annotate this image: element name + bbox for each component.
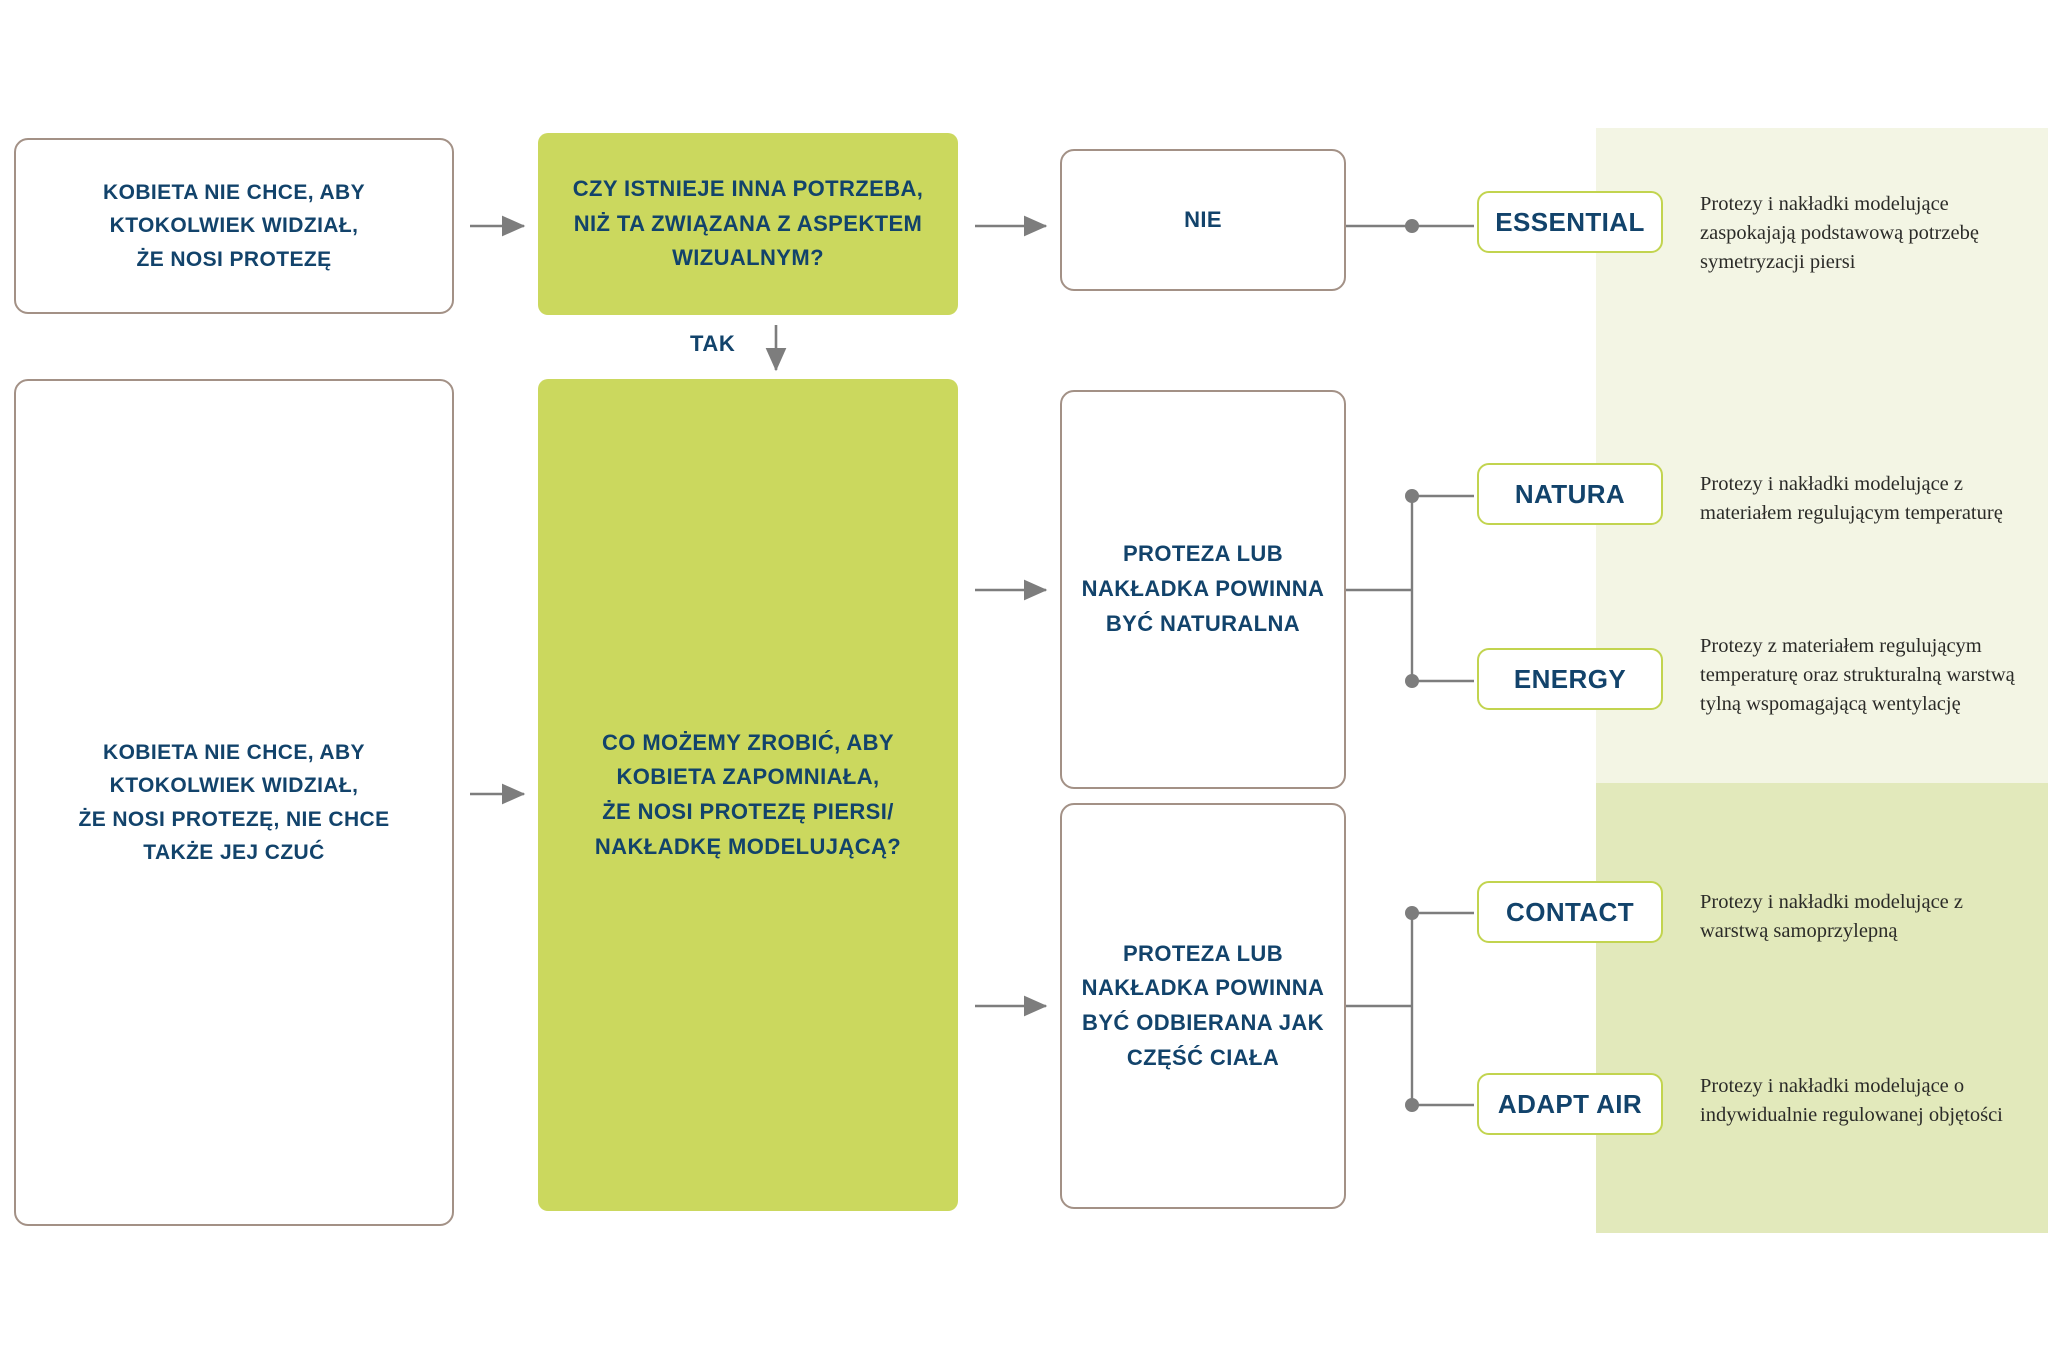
- outcome-box-body-part[interactable]: PROTEZA LUBNAKŁADKA POWINNABYĆ ODBIERANA…: [1060, 803, 1346, 1209]
- product-pill-adapt-air[interactable]: ADAPT AIR: [1477, 1073, 1663, 1135]
- product-pill-energy[interactable]: ENERGY: [1477, 648, 1663, 710]
- scenario-box-visibility-and-feel[interactable]: KOBIETA NIE CHCE, ABYKTOKOLWIEK WIDZIAŁ,…: [14, 379, 454, 1226]
- outcome-box-nie[interactable]: NIE: [1060, 149, 1346, 291]
- product-description-natura: Protezy i nakładki modelujące z materiał…: [1700, 470, 2020, 528]
- decision-box-forget-prosthesis-text: CO MOŻEMY ZROBIĆ, ABYKOBIETA ZAPOMNIAŁA,…: [595, 726, 901, 865]
- outcome-box-natural[interactable]: PROTEZA LUBNAKŁADKA POWINNABYĆ NATURALNA: [1060, 390, 1346, 789]
- decision-box-forget-prosthesis[interactable]: CO MOŻEMY ZROBIĆ, ABYKOBIETA ZAPOMNIAŁA,…: [538, 379, 958, 1211]
- connector-dot-natura: [1405, 489, 1419, 503]
- product-description-contact: Protezy i nakładki modelujące z warstwą …: [1700, 888, 2020, 946]
- outcome-box-body-part-text: PROTEZA LUBNAKŁADKA POWINNABYĆ ODBIERANA…: [1082, 937, 1325, 1076]
- connector-dot-essential: [1405, 219, 1419, 233]
- product-description-essential: Protezy i nakładki modelujące zaspokajaj…: [1700, 190, 2020, 277]
- product-pill-energy-label: ENERGY: [1514, 664, 1626, 695]
- connector-dot-adaptair: [1405, 1098, 1419, 1112]
- product-pill-essential-label: ESSENTIAL: [1495, 207, 1645, 238]
- product-description-energy: Protezy z materiałem regulującym tempera…: [1700, 632, 2020, 719]
- scenario-box-visibility[interactable]: KOBIETA NIE CHCE, ABYKTOKOLWIEK WIDZIAŁ,…: [14, 138, 454, 314]
- scenario-box-visibility-and-feel-text: KOBIETA NIE CHCE, ABYKTOKOLWIEK WIDZIAŁ,…: [78, 736, 389, 869]
- product-pill-contact[interactable]: CONTACT: [1477, 881, 1663, 943]
- panel-dark-background: [1596, 783, 2048, 1233]
- flowchart-canvas: KOBIETA NIE CHCE, ABYKTOKOLWIEK WIDZIAŁ,…: [0, 0, 2048, 1365]
- product-description-adapt-air: Protezy i nakładki modelujące o indywidu…: [1700, 1072, 2020, 1130]
- outcome-box-natural-text: PROTEZA LUBNAKŁADKA POWINNABYĆ NATURALNA: [1082, 537, 1325, 641]
- product-pill-contact-label: CONTACT: [1506, 897, 1634, 928]
- decision-box-other-need-text: CZY ISTNIEJE INNA POTRZEBA,NIŻ TA ZWIĄZA…: [573, 172, 924, 276]
- product-pill-adapt-air-label: ADAPT AIR: [1498, 1089, 1642, 1120]
- edge-label-tak: TAK: [690, 331, 735, 357]
- product-pill-essential[interactable]: ESSENTIAL: [1477, 191, 1663, 253]
- decision-box-other-need[interactable]: CZY ISTNIEJE INNA POTRZEBA,NIŻ TA ZWIĄZA…: [538, 133, 958, 315]
- scenario-box-visibility-text: KOBIETA NIE CHCE, ABYKTOKOLWIEK WIDZIAŁ,…: [103, 176, 365, 276]
- outcome-box-nie-text: NIE: [1184, 203, 1222, 238]
- connector-dot-energy: [1405, 674, 1419, 688]
- product-pill-natura-label: NATURA: [1515, 479, 1625, 510]
- connector-dot-contact: [1405, 906, 1419, 920]
- product-pill-natura[interactable]: NATURA: [1477, 463, 1663, 525]
